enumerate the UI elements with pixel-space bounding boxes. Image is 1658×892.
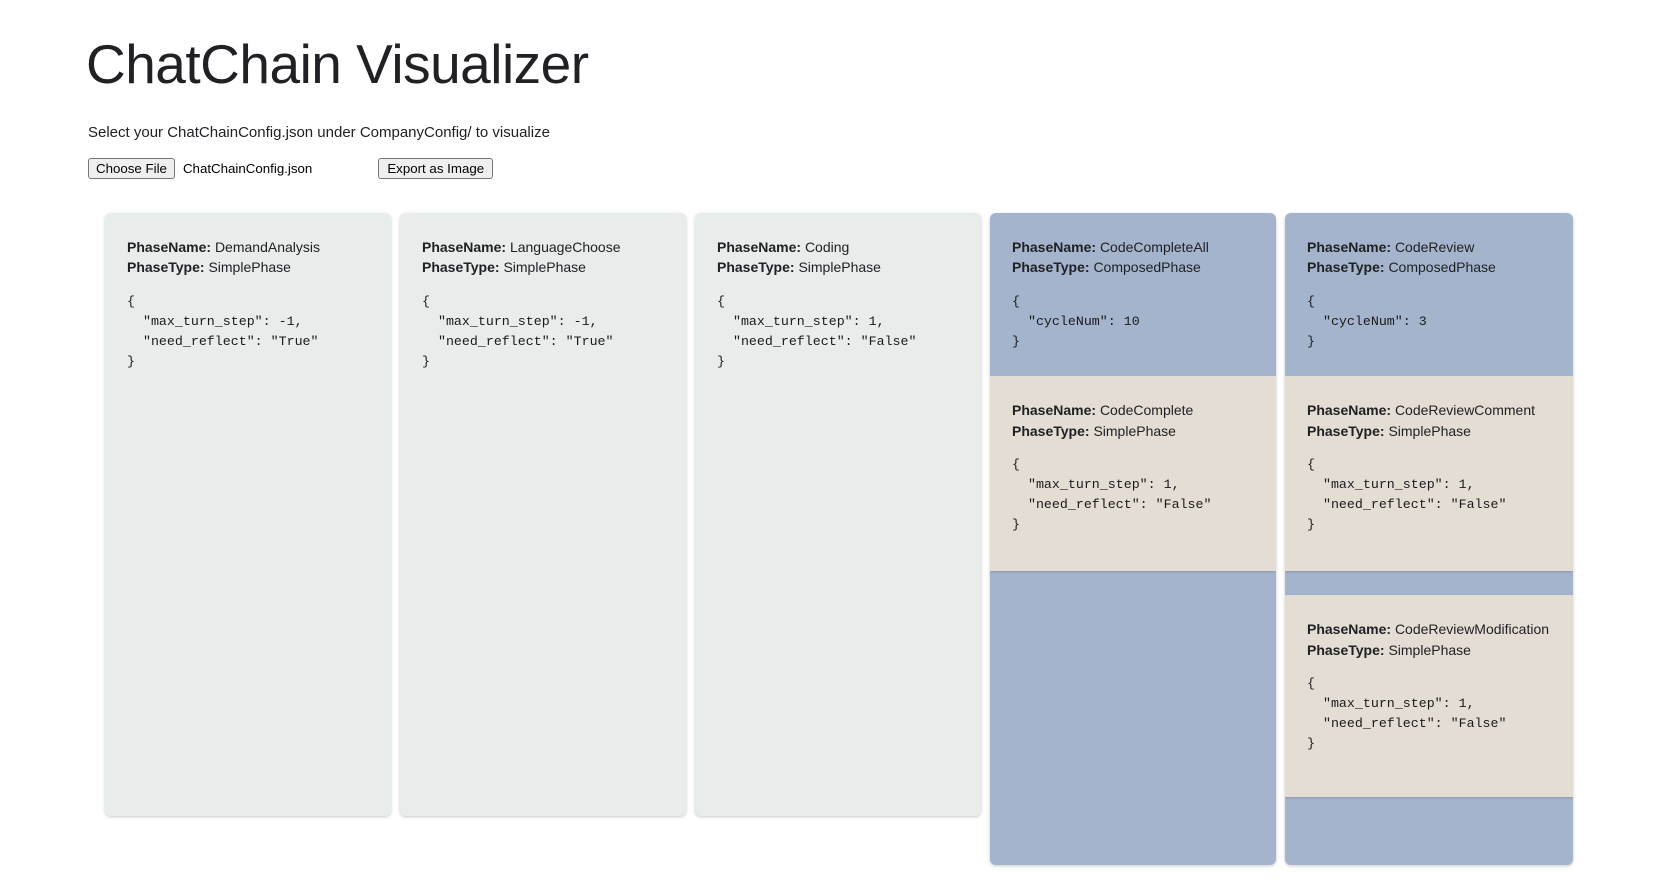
phase-type-key: PhaseType: (422, 259, 500, 275)
phase-name-value: Coding (805, 239, 849, 255)
chain-board: PhaseName: DemandAnalysis PhaseType: Sim… (105, 213, 1573, 865)
sub-phase-card-codereviewmodification[interactable]: PhaseName: CodeReviewModification PhaseT… (1285, 595, 1573, 797)
phase-type-key: PhaseType: (1307, 259, 1385, 275)
chain-column: PhaseName: CodeCompleteAll PhaseType: Co… (990, 213, 1276, 865)
phase-name-key: PhaseName: (1307, 621, 1391, 637)
phase-name-key: PhaseName: (422, 239, 506, 255)
sub-phase-list: PhaseName: CodeComplete PhaseType: Simpl… (990, 376, 1276, 595)
sub-phase-card-codecomplete[interactable]: PhaseName: CodeComplete PhaseType: Simpl… (990, 376, 1276, 571)
composed-phase-header: PhaseName: CodeReview PhaseType: Compose… (1307, 237, 1551, 352)
phase-type-value: SimplePhase (208, 259, 291, 275)
phase-config-json: { "max_turn_step": 1, "need_reflect": "F… (1012, 455, 1254, 536)
phase-type-value: ComposedPhase (1093, 259, 1200, 275)
phase-config-json: { "cycleNum": 10 } (1012, 292, 1254, 353)
phase-type-key: PhaseType: (1012, 423, 1090, 439)
phase-type-value: SimplePhase (503, 259, 586, 275)
phase-name-value: CodeReview (1395, 239, 1474, 255)
phase-name-line: PhaseName: CodeCompleteAll (1012, 237, 1254, 257)
phase-type-line: PhaseType: ComposedPhase (1012, 257, 1254, 277)
phase-name-value: LanguageChoose (510, 239, 621, 255)
phase-card-codereview[interactable]: PhaseName: CodeReview PhaseType: Compose… (1285, 213, 1573, 865)
phase-name-line: PhaseName: CodeReview (1307, 237, 1551, 257)
phase-type-key: PhaseType: (1012, 259, 1090, 275)
phase-name-value: CodeReviewModification (1395, 621, 1549, 637)
phase-card-coding[interactable]: PhaseName: Coding PhaseType: SimplePhase… (695, 213, 981, 816)
phase-type-key: PhaseType: (1307, 642, 1385, 658)
phase-type-key: PhaseType: (127, 259, 205, 275)
phase-type-key: PhaseType: (717, 259, 795, 275)
phase-name-value: DemandAnalysis (215, 239, 320, 255)
phase-config-json: { "max_turn_step": 1, "need_reflect": "F… (1307, 674, 1551, 755)
phase-name-line: PhaseName: LanguageChoose (422, 237, 664, 257)
chain-column: PhaseName: CodeReview PhaseType: Compose… (1285, 213, 1573, 865)
chain-column: PhaseName: LanguageChoose PhaseType: Sim… (400, 213, 686, 816)
sub-phase-list: PhaseName: CodeReviewComment PhaseType: … (1285, 376, 1573, 821)
phase-name-key: PhaseName: (1012, 239, 1096, 255)
controls-bar: Choose File ChatChainConfig.json Export … (88, 158, 1658, 180)
phase-name-key: PhaseName: (127, 239, 211, 255)
phase-config-json: { "cycleNum": 3 } (1307, 292, 1551, 353)
phase-config-json: { "max_turn_step": 1, "need_reflect": "F… (717, 292, 959, 373)
phase-name-key: PhaseName: (1012, 402, 1096, 418)
phase-type-value: SimplePhase (1093, 423, 1176, 439)
phase-config-json: { "max_turn_step": -1, "need_reflect": "… (127, 292, 369, 373)
page-root: ChatChain Visualizer Select your ChatCha… (0, 0, 1658, 892)
phase-name-line: PhaseName: CodeReviewComment (1307, 400, 1551, 420)
sub-phase-card-codereviewcomment[interactable]: PhaseName: CodeReviewComment PhaseType: … (1285, 376, 1573, 571)
phase-type-value: SimplePhase (1388, 423, 1471, 439)
phase-card-demandanalysis[interactable]: PhaseName: DemandAnalysis PhaseType: Sim… (105, 213, 391, 816)
phase-name-line: PhaseName: CodeComplete (1012, 400, 1254, 420)
phase-type-line: PhaseType: SimplePhase (422, 257, 664, 277)
page-header: ChatChain Visualizer Select your ChatCha… (0, 0, 1658, 180)
file-input[interactable]: Choose File ChatChainConfig.json (88, 158, 312, 179)
phase-type-line: PhaseType: SimplePhase (1012, 421, 1254, 441)
phase-name-key: PhaseName: (717, 239, 801, 255)
export-as-image-button[interactable]: Export as Image (378, 158, 493, 179)
phase-type-value: ComposedPhase (1388, 259, 1495, 275)
phase-card-languagechoose[interactable]: PhaseName: LanguageChoose PhaseType: Sim… (400, 213, 686, 816)
page-subtitle: Select your ChatChainConfig.json under C… (88, 124, 1658, 142)
phase-type-key: PhaseType: (1307, 423, 1385, 439)
phase-type-line: PhaseType: SimplePhase (1307, 421, 1551, 441)
page-title: ChatChain Visualizer (86, 36, 1658, 94)
phase-name-line: PhaseName: DemandAnalysis (127, 237, 369, 257)
phase-config-json: { "max_turn_step": -1, "need_reflect": "… (422, 292, 664, 373)
phase-type-line: PhaseType: SimplePhase (127, 257, 369, 277)
phase-type-value: SimplePhase (1388, 642, 1471, 658)
composed-phase-header: PhaseName: CodeCompleteAll PhaseType: Co… (1012, 237, 1254, 352)
phase-type-line: PhaseType: SimplePhase (717, 257, 959, 277)
phase-name-value: CodeComplete (1100, 402, 1193, 418)
phase-type-line: PhaseType: ComposedPhase (1307, 257, 1551, 277)
chain-column: PhaseName: Coding PhaseType: SimplePhase… (695, 213, 981, 816)
chain-column: PhaseName: DemandAnalysis PhaseType: Sim… (105, 213, 391, 816)
phase-type-value: SimplePhase (798, 259, 881, 275)
phase-name-value: CodeCompleteAll (1100, 239, 1209, 255)
phase-name-key: PhaseName: (1307, 239, 1391, 255)
phase-name-value: CodeReviewComment (1395, 402, 1535, 418)
phase-card-codecompleteall[interactable]: PhaseName: CodeCompleteAll PhaseType: Co… (990, 213, 1276, 865)
phase-name-key: PhaseName: (1307, 402, 1391, 418)
phase-type-line: PhaseType: SimplePhase (1307, 640, 1551, 660)
choose-file-button[interactable]: Choose File (88, 158, 175, 179)
phase-name-line: PhaseName: Coding (717, 237, 959, 257)
phase-name-line: PhaseName: CodeReviewModification (1307, 619, 1551, 639)
selected-file-name: ChatChainConfig.json (183, 161, 312, 176)
phase-config-json: { "max_turn_step": 1, "need_reflect": "F… (1307, 455, 1551, 536)
